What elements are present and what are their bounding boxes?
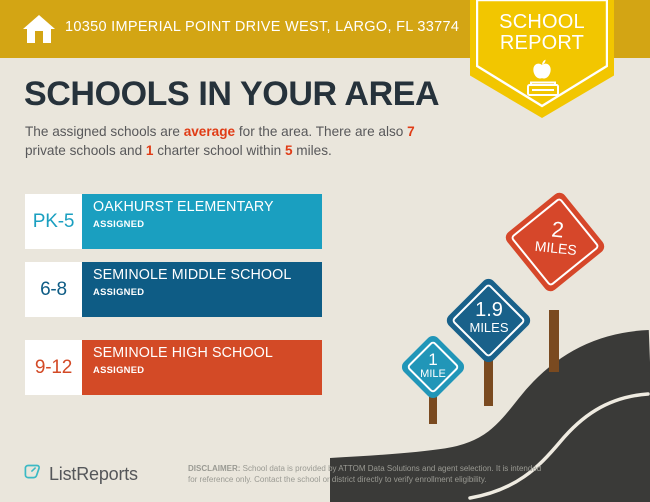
school-info-elementary: OAKHURST ELEMENTARY ASSIGNED [82,194,322,249]
school-row-high[interactable]: 9-12 SEMINOLE HIGH SCHOOL ASSIGNED [25,340,322,395]
sign-label-2: 1.9 MILES [454,300,524,335]
disclaimer-text: DISCLAIMER: School data is provided by A… [188,463,548,485]
badge-title: SCHOOL REPORT [470,12,614,54]
summary-part-5: miles. [293,143,332,158]
sign-label-1: 1 MILE [403,351,463,380]
home-icon [22,12,56,46]
sign-label-3: 2 MILES [516,214,598,260]
sign-number-2: 1.9 [454,300,524,321]
summary-highlight-radius: 5 [285,143,293,158]
school-name-elementary: OAKHURST ELEMENTARY [93,200,322,216]
summary-text: The assigned schools are average for the… [25,122,455,160]
sign-unit-2: MILES [454,321,524,335]
disclaimer-label: DISCLAIMER: [188,464,240,473]
apple-icon [533,60,550,79]
summary-part-1: The assigned schools are [25,124,184,139]
listreports-logo-text: ListReports [49,464,138,485]
grade-range-high: 9-12 [25,340,82,395]
summary-part-2: for the area. There are also [235,124,407,139]
property-address: 10350 IMPERIAL POINT DRIVE WEST, LARGO, … [65,19,459,35]
badge-icon-group [470,56,614,107]
sign-number-1: 1 [403,351,463,369]
school-status-high: ASSIGNED [93,364,322,375]
grade-range-elementary: PK-5 [25,194,82,249]
book-icon [528,83,558,96]
school-info-high: SEMINOLE HIGH SCHOOL ASSIGNED [82,340,322,395]
page-title: SCHOOLS IN YOUR AREA [24,75,439,114]
listreports-logo[interactable]: ListReports [22,461,138,487]
school-report-infographic: 1 MILE 1.9 MILES 2 MILES 10350 IMPERIAL … [0,0,650,502]
disclaimer-body: School data is provided by ATTOM Data So… [188,464,541,484]
sign-post-3 [549,310,559,372]
listreports-house-icon [22,461,43,487]
school-info-middle: SEMINOLE MIDDLE SCHOOL ASSIGNED [82,262,322,317]
grade-range-middle: 6-8 [25,262,82,317]
summary-part-3: private schools and [25,143,146,158]
sign-unit-1: MILE [403,369,463,381]
school-name-high: SEMINOLE HIGH SCHOOL [93,346,322,362]
school-row-elementary[interactable]: PK-5 OAKHURST ELEMENTARY ASSIGNED [25,194,322,249]
badge-title-line2: REPORT [470,33,614,54]
school-status-middle: ASSIGNED [93,286,322,297]
summary-highlight-rating: average [184,124,235,139]
school-status-elementary: ASSIGNED [93,218,322,229]
school-name-middle: SEMINOLE MIDDLE SCHOOL [93,268,322,284]
school-row-middle[interactable]: 6-8 SEMINOLE MIDDLE SCHOOL ASSIGNED [25,262,322,317]
summary-highlight-private-count: 7 [407,124,415,139]
summary-part-4: charter school within [153,143,284,158]
badge-title-line1: SCHOOL [470,12,614,33]
